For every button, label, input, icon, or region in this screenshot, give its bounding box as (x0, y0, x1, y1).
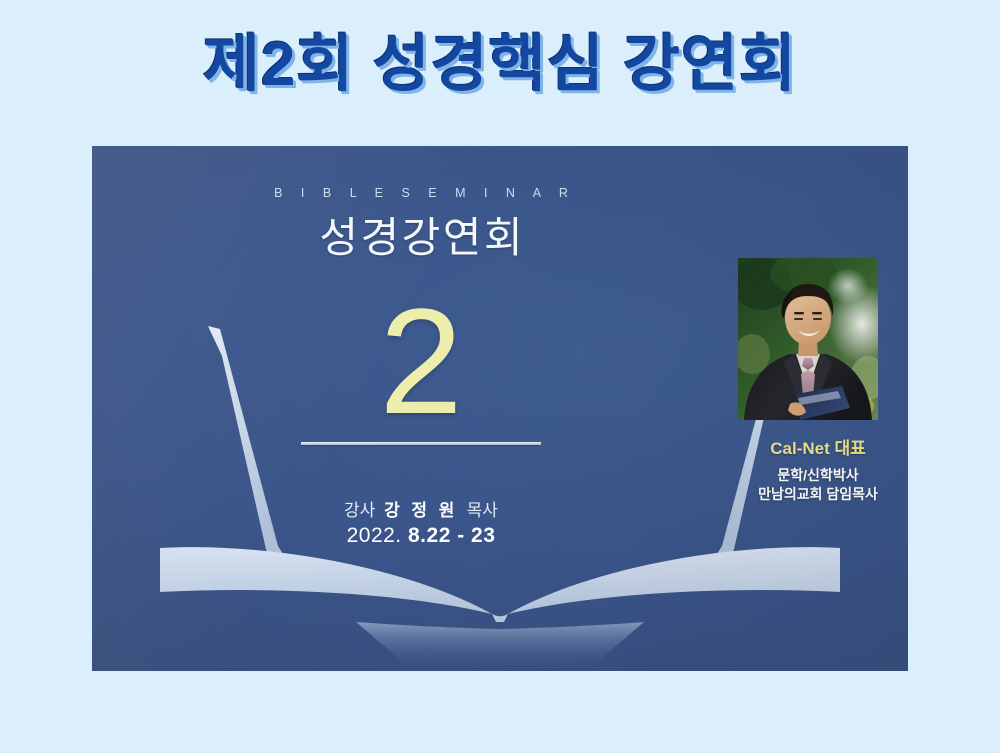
poster-page: 제2회 성경핵심 강연회 (0, 0, 1000, 753)
speaker-portrait-photo (738, 258, 878, 420)
speaker-line: 강사 강 정 원 목사 (92, 496, 750, 521)
event-date: 2022. 8.22 - 23 (92, 524, 750, 548)
speaker-photo-block: Cal-Net 대표 문학/신학박사 만남의교회 담임목사 (738, 258, 898, 504)
speaker-name: 강 정 원 (384, 501, 458, 520)
speaker-prefix: 강사 (344, 501, 375, 520)
event-date-range: 8.22 - 23 (408, 524, 495, 547)
seminar-poster: B I B L E S E M I N A R 성경강연회 2 강사 강 정 원… (92, 146, 908, 671)
speaker-title: 목사 (467, 501, 498, 520)
event-year: 2022. (347, 524, 402, 547)
page-title: 제2회 성경핵심 강연회 (0, 32, 1000, 97)
speaker-role: Cal-Net 대표 (738, 434, 898, 459)
speaker-credential-church: 만남의교회 담임목사 (733, 485, 903, 504)
poster-edition-number: 2 (92, 286, 750, 436)
poster-kicker: B I B L E S E M I N A R (92, 186, 750, 200)
speaker-credential-degree: 문학/신학박사 (733, 466, 903, 485)
poster-divider (301, 442, 541, 445)
poster-text-column: B I B L E S E M I N A R 성경강연회 2 강사 강 정 원… (92, 146, 750, 671)
poster-subtitle: 성경강연회 (92, 204, 750, 265)
